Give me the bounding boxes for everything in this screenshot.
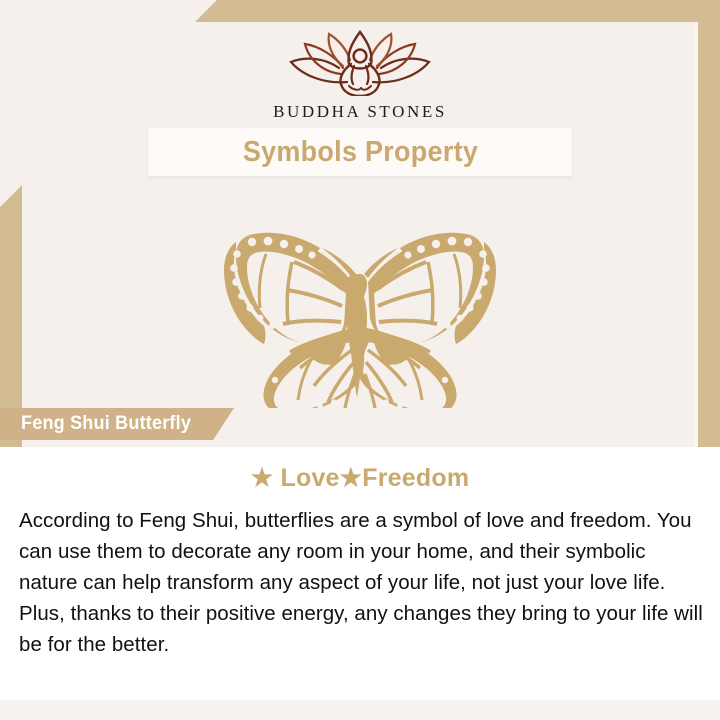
product-infographic: BUDDHA STONES Symbols Property (0, 0, 720, 720)
brand-name: BUDDHA STONES (273, 102, 447, 122)
brand-logo: BUDDHA STONES (0, 26, 720, 122)
butterfly-illustration (196, 212, 524, 408)
page-title: Symbols Property (242, 136, 477, 169)
love-freedom-heading: ★ Love★Freedom (0, 463, 720, 493)
feng-shui-banner-label: Feng Shui Butterfly (21, 413, 191, 435)
description-paragraph: According to Feng Shui, butterflies are … (0, 505, 720, 660)
description-section: ★ Love★Freedom According to Feng Shui, b… (0, 447, 720, 700)
title-band: Symbols Property (148, 128, 572, 176)
lotus-meditation-icon (285, 26, 435, 96)
monarch-butterfly-icon (196, 212, 524, 408)
feng-shui-banner: Feng Shui Butterfly (0, 408, 234, 440)
frame-top-border (195, 0, 720, 22)
bottom-beige-strip (0, 700, 720, 720)
